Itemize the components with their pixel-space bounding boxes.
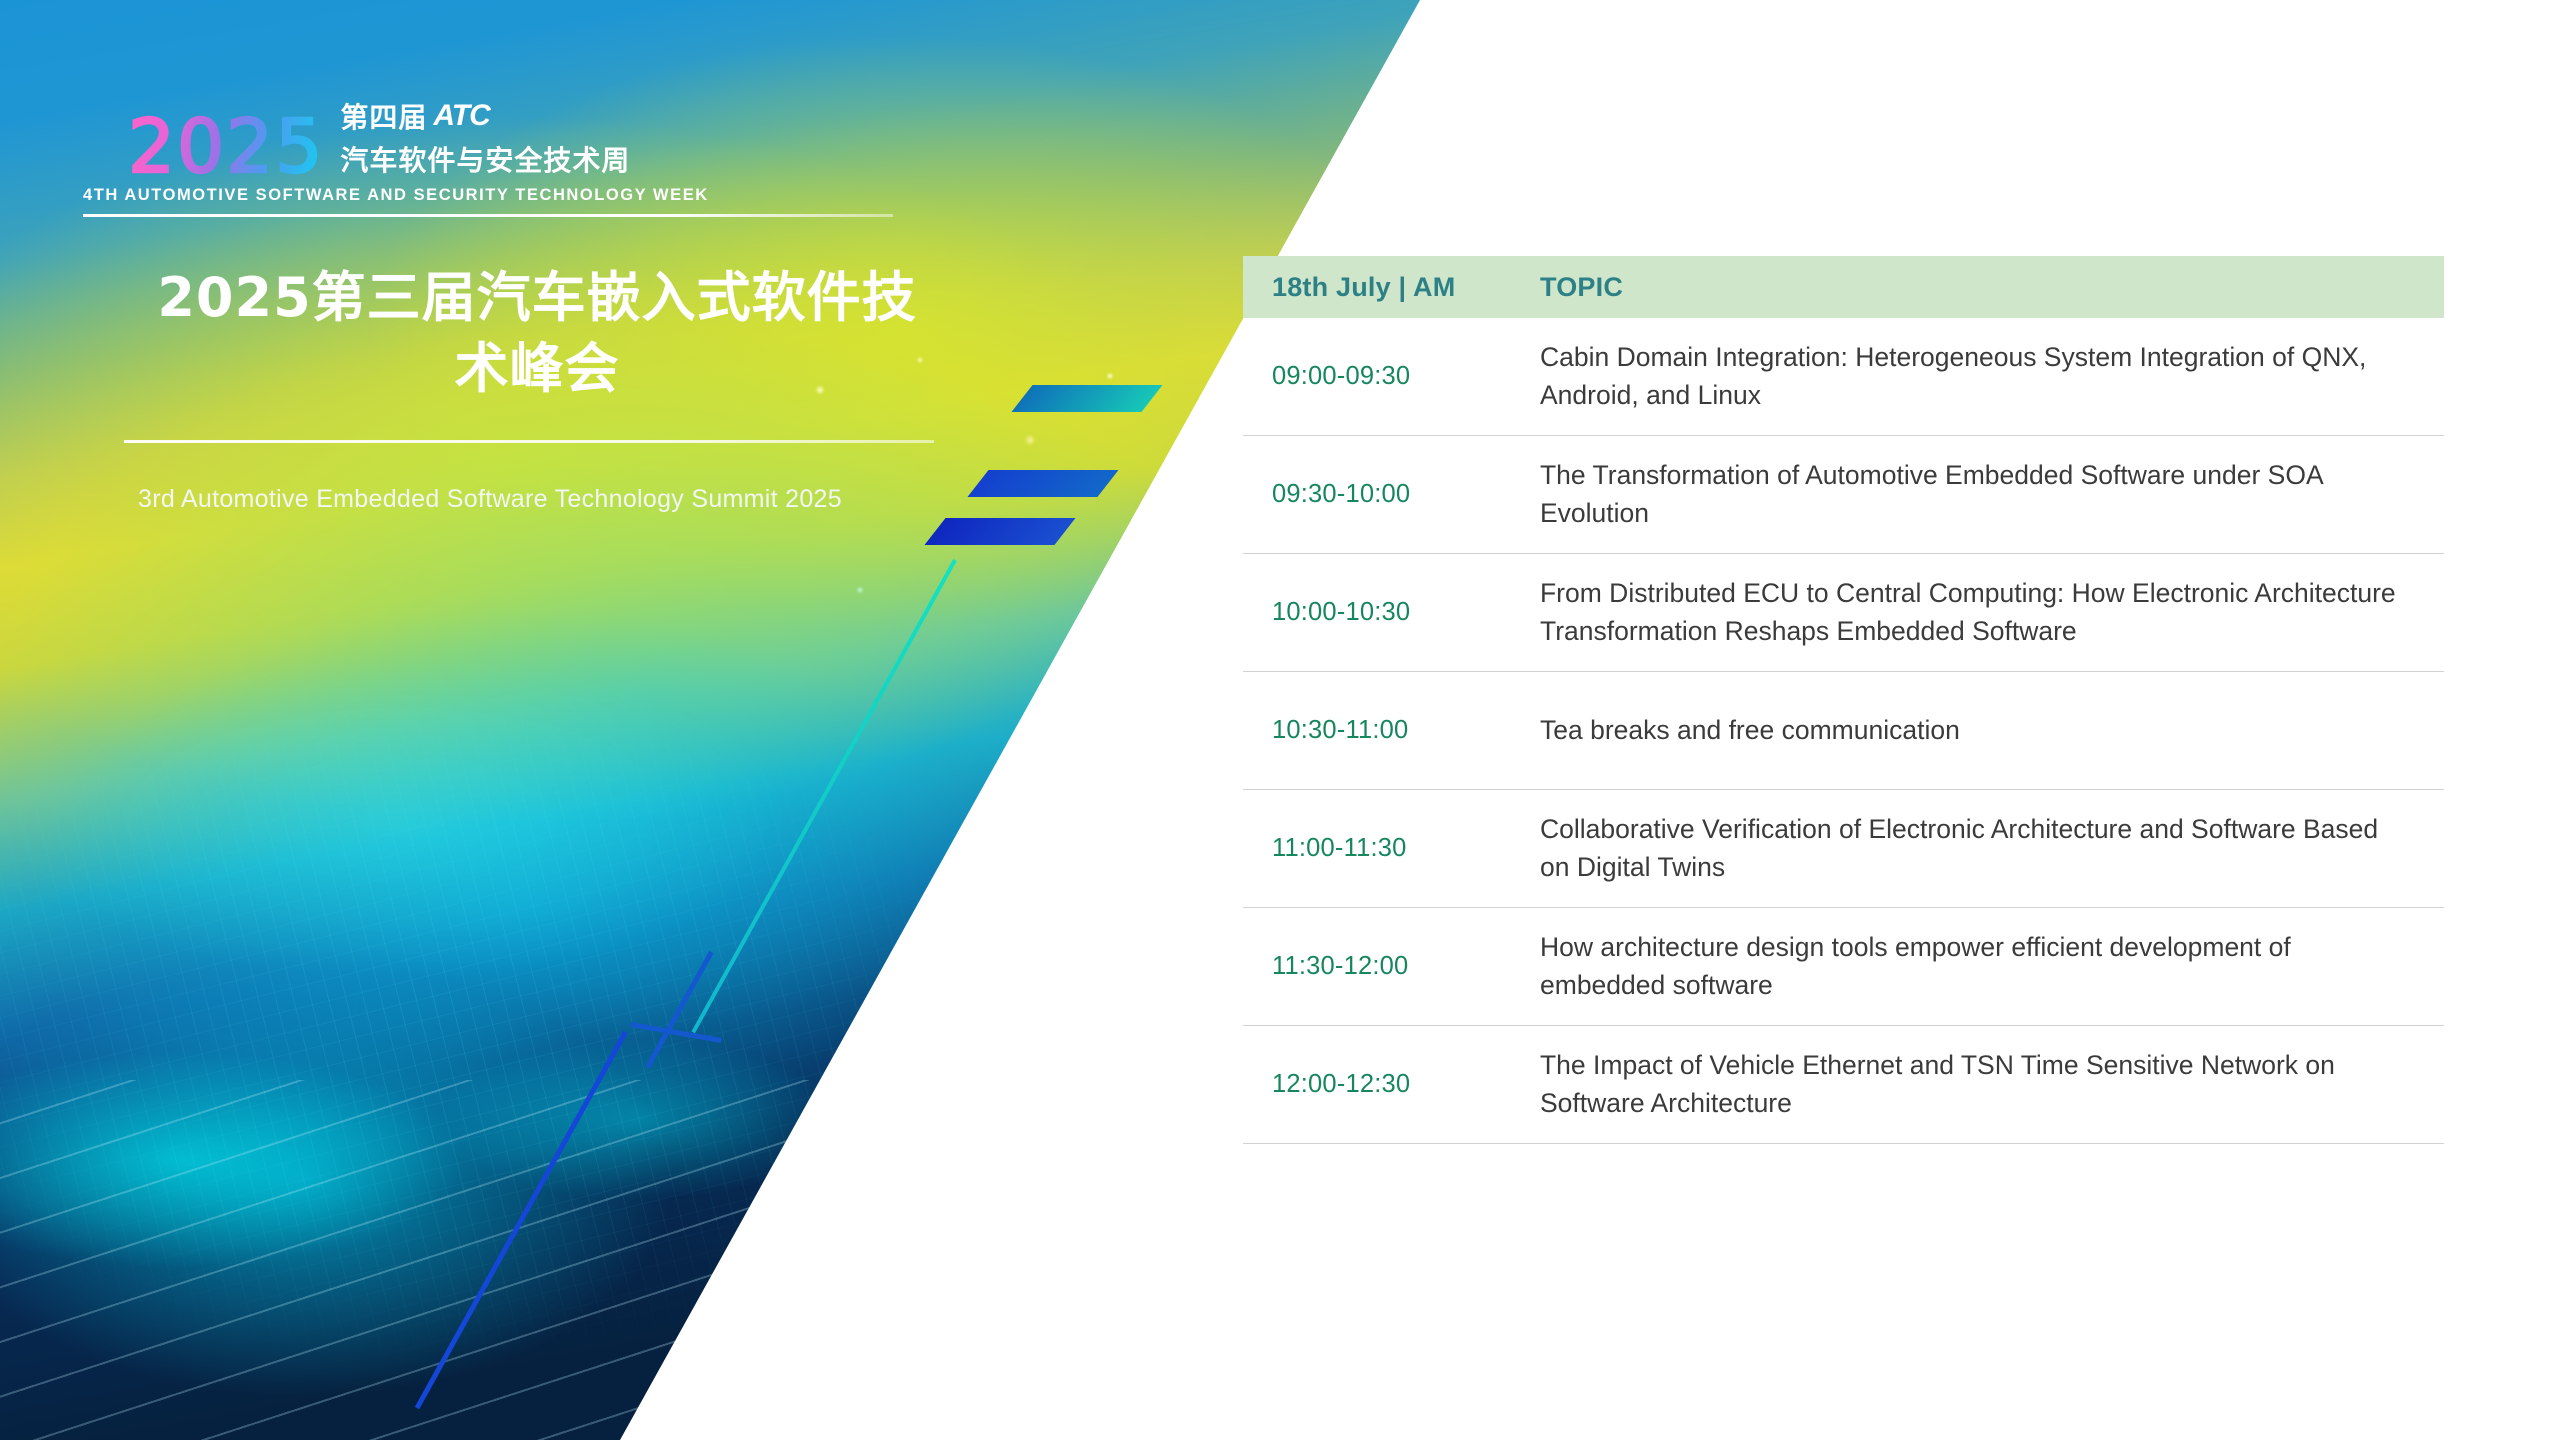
- chevron-bar-icon-1: [1011, 385, 1162, 412]
- logo-line-two: 汽车软件与安全技术周: [340, 139, 630, 179]
- atc-wordmark: ATC: [433, 99, 489, 133]
- page-subtitle: 3rd Automotive Embedded Software Technol…: [138, 482, 898, 516]
- session-time: 11:00-11:30: [1243, 834, 1540, 863]
- session-topic: The Transformation of Automotive Embedde…: [1540, 457, 2444, 532]
- logo-edition-label: 第四届: [340, 96, 427, 136]
- session-topic: From Distributed ECU to Central Computin…: [1540, 575, 2444, 650]
- table-row[interactable]: 10:30-11:00 Tea breaks and free communic…: [1243, 672, 2444, 790]
- event-logo: 2025 第四届 ATC 汽车软件与安全技术周 4TH AUTOMOTIVE S…: [128, 95, 918, 217]
- session-time: 11:30-12:00: [1243, 952, 1540, 981]
- agenda-table-header: 18th July | AM TOPIC: [1243, 256, 2444, 318]
- column-header-topic: TOPIC: [1540, 272, 2444, 303]
- logo-year: 2025: [128, 113, 324, 181]
- slide-canvas: 2025 第四届 ATC 汽车软件与安全技术周 4TH AUTOMOTIVE S…: [0, 0, 2560, 1440]
- title-divider: [124, 440, 934, 443]
- table-row[interactable]: 11:30-12:00 How architecture design tool…: [1243, 908, 2444, 1026]
- logo-top-row: 2025 第四届 ATC 汽车软件与安全技术周: [128, 95, 918, 181]
- ground-light-streaks: [0, 1080, 1200, 1440]
- logo-chinese-lockup: 第四届 ATC 汽车软件与安全技术周: [340, 96, 630, 181]
- table-row[interactable]: 09:00-09:30 Cabin Domain Integration: He…: [1243, 318, 2444, 436]
- session-time: 10:30-11:00: [1243, 716, 1540, 745]
- table-row[interactable]: 12:00-12:30 The Impact of Vehicle Ethern…: [1243, 1026, 2444, 1144]
- table-row[interactable]: 11:00-11:30 Collaborative Verification o…: [1243, 790, 2444, 908]
- session-topic: Cabin Domain Integration: Heterogeneous …: [1540, 339, 2444, 414]
- session-topic: Tea breaks and free communication: [1540, 712, 2444, 750]
- session-time: 10:00-10:30: [1243, 598, 1540, 627]
- session-topic: The Impact of Vehicle Ethernet and TSN T…: [1540, 1047, 2444, 1122]
- logo-underline-rule: [83, 214, 893, 217]
- table-row[interactable]: 09:30-10:00 The Transformation of Automo…: [1243, 436, 2444, 554]
- agenda-table: 18th July | AM TOPIC 09:00-09:30 Cabin D…: [1243, 256, 2444, 1144]
- chevron-bar-icon-3: [924, 518, 1075, 545]
- logo-line-one: 第四届 ATC: [340, 96, 630, 136]
- session-time: 12:00-12:30: [1243, 1070, 1540, 1099]
- session-topic: Collaborative Verification of Electronic…: [1540, 811, 2444, 886]
- session-time: 09:00-09:30: [1243, 362, 1540, 391]
- session-topic: How architecture design tools empower ef…: [1540, 929, 2444, 1004]
- page-title: 2025第三届汽车嵌入式软件技术峰会: [132, 262, 942, 405]
- column-header-time: 18th July | AM: [1243, 272, 1540, 303]
- session-time: 09:30-10:00: [1243, 480, 1540, 509]
- chevron-bar-icon-2: [967, 470, 1118, 497]
- table-row[interactable]: 10:00-10:30 From Distributed ECU to Cent…: [1243, 554, 2444, 672]
